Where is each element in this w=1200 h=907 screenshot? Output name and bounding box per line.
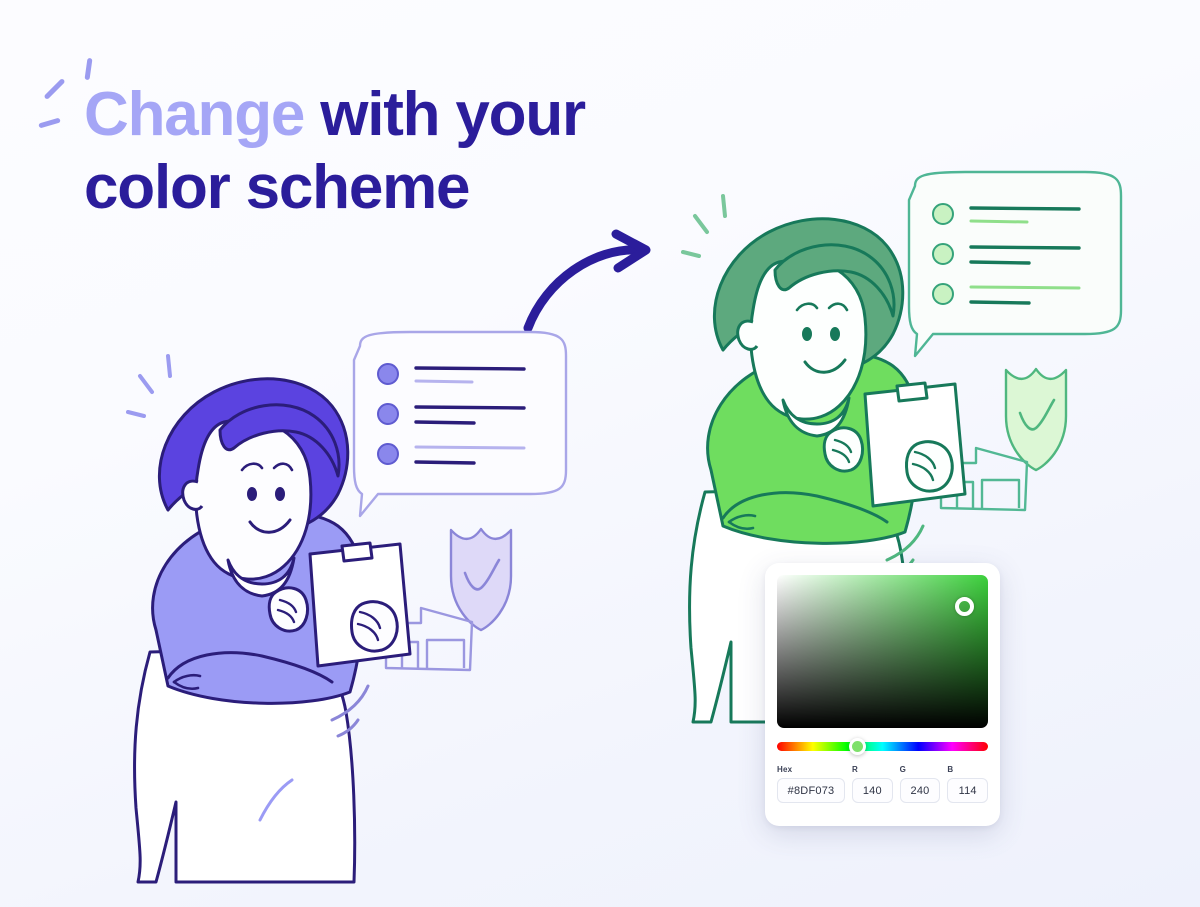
page-title-accent: Change [84, 80, 304, 149]
sparkle-group-green [683, 196, 725, 256]
character-hand-left-purple [269, 588, 307, 631]
speech-bubble-green [909, 172, 1121, 356]
shield-check-icon-purple [451, 529, 511, 630]
hex-input[interactable]: #8DF073 [777, 778, 845, 803]
hue-slider[interactable] [777, 742, 988, 751]
sparkle-icon [44, 78, 66, 100]
speech-bubble-purple [354, 332, 566, 516]
character-eye-left-green [802, 327, 812, 341]
illustration-purple [110, 330, 580, 890]
green-field-group: G 240 [900, 765, 941, 803]
green-field-label: G [900, 765, 941, 774]
character-eye-right-purple [275, 487, 285, 501]
hue-slider-handle[interactable] [849, 738, 866, 755]
blue-field-group: B 114 [947, 765, 988, 803]
hex-field-group: Hex #8DF073 [777, 765, 845, 803]
page-title: Change with your color scheme [84, 78, 704, 224]
character-hand-right-green [906, 442, 952, 491]
hex-field-label: Hex [777, 765, 845, 774]
sparkle-icon [38, 118, 61, 129]
blue-field-label: B [947, 765, 988, 774]
red-field-group: R 140 [852, 765, 893, 803]
color-value-fields: Hex #8DF073 R 140 G 240 B 114 [777, 765, 988, 803]
color-picker-panel[interactable]: Hex #8DF073 R 140 G 240 B 114 [765, 563, 1000, 826]
character-eye-left-purple [247, 487, 257, 501]
red-input[interactable]: 140 [852, 778, 893, 803]
character-hand-left-green [824, 428, 862, 471]
sparkle-icon [84, 58, 92, 80]
shield-check-icon-green [1006, 369, 1066, 470]
character-eye-right-green [830, 327, 840, 341]
saturation-value-handle[interactable] [955, 597, 974, 616]
transition-arrow-icon [512, 228, 682, 338]
green-input[interactable]: 240 [900, 778, 941, 803]
character-hand-right-purple [351, 602, 397, 651]
saturation-value-square[interactable] [777, 575, 988, 728]
red-field-label: R [852, 765, 893, 774]
blue-input[interactable]: 114 [947, 778, 988, 803]
sparkle-group-purple [128, 356, 170, 416]
